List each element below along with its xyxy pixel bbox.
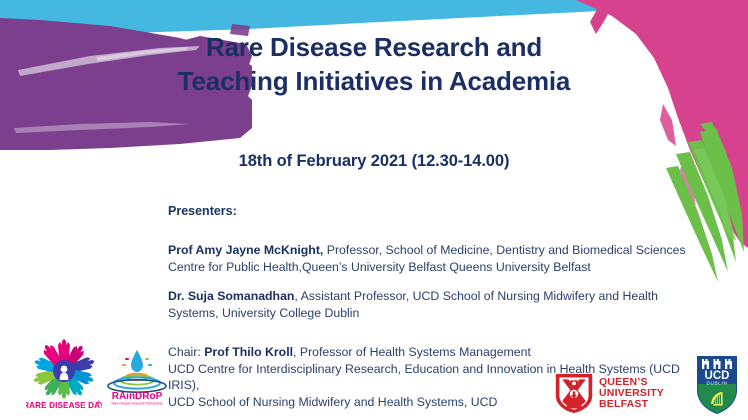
- rdd-hands-mark: [32, 339, 97, 399]
- chair-name: Prof Thilo Kroll: [204, 345, 293, 359]
- raindrop-wordmark: RAinDRoP: [112, 391, 163, 402]
- raindrop-logo: RAinDRoP Rare Disease Research Partnersh…: [100, 344, 174, 406]
- queens-university-belfast-logo: QUEEN’S UNIVERSITY BELFAST: [554, 372, 694, 420]
- chair-affiliation-line-2: UCD School of Nursing Midwifery and Heal…: [168, 395, 497, 409]
- rare-disease-day-logo: RARE DISEASE DAY ®: [26, 338, 102, 416]
- rdd-wordmark: RARE DISEASE DAY: [26, 401, 102, 410]
- qub-wordmark-line-3: BELFAST: [599, 399, 664, 410]
- qub-crest-icon: [554, 372, 594, 414]
- title-line-2: Teaching Initiatives in Academia: [0, 64, 748, 98]
- qub-wordmark-line-1: QUEEN’S: [599, 377, 664, 388]
- purple-brush-highlight-3: [14, 122, 190, 133]
- presenters-heading: Presenters:: [168, 204, 237, 218]
- poster-title: Rare Disease Research and Teaching Initi…: [0, 30, 748, 98]
- raindrop-tagline: Rare Disease Research Partnership: [111, 402, 162, 406]
- ucd-logo: UCD DUBLIN: [694, 354, 740, 416]
- poster-canvas: Rare Disease Research and Teaching Initi…: [0, 0, 748, 420]
- chair-role: , Professor of Health Systems Management: [293, 345, 531, 359]
- title-line-1: Rare Disease Research and: [0, 30, 748, 64]
- ucd-shield-lower: [698, 384, 736, 413]
- pink-brush-edge-2: [660, 104, 676, 146]
- presenter-name: Prof Amy Jayne McKnight,: [168, 243, 323, 257]
- raindrop-droplet-mark: [108, 350, 166, 392]
- presenter-entry: Prof Amy Jayne McKnight, Professor, Scho…: [168, 242, 698, 275]
- qub-wordmark-line-2: UNIVERSITY: [599, 388, 664, 399]
- ucd-sub-wordmark: DUBLIN: [706, 381, 727, 386]
- qub-wordmark: QUEEN’S UNIVERSITY BELFAST: [599, 377, 664, 410]
- pink-brush-edge-1: [590, 0, 614, 34]
- presenter-name: Dr. Suja Somanadhan: [168, 289, 294, 303]
- event-date: 18th of February 2021 (12.30-14.00): [0, 152, 748, 171]
- presenter-entry: Dr. Suja Somanadhan, Assistant Professor…: [168, 288, 698, 321]
